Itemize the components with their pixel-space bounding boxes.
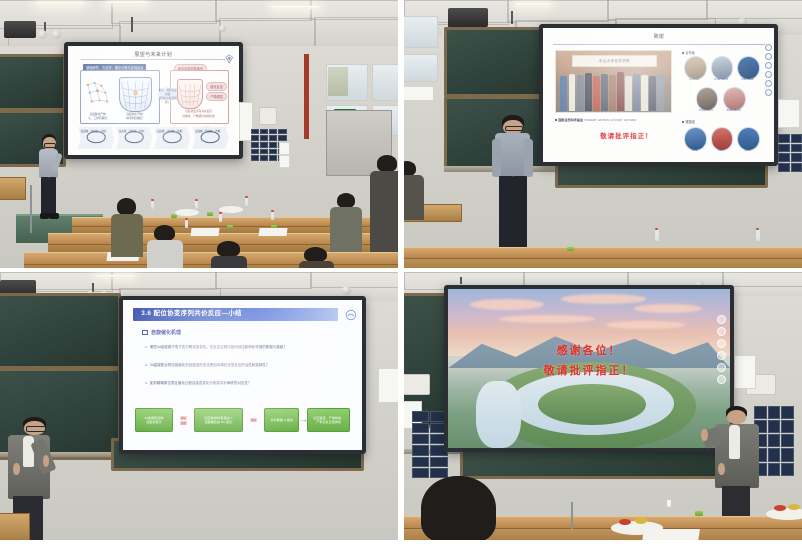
- more-icon[interactable]: [717, 375, 726, 384]
- fruit: [788, 504, 800, 510]
- wall-speaker: [448, 8, 488, 27]
- slide-question: 哪些3d金属离子电子态与氧化态变化，在反应过程中如何对应影响化学键的断裂与重组？: [145, 345, 287, 350]
- cloud-icon[interactable]: [765, 44, 772, 51]
- presenter-hand: [701, 429, 707, 441]
- snack-box: [567, 247, 574, 251]
- grid-icon[interactable]: [717, 363, 726, 372]
- avatar-name: 陈梦园 / 苏丹丹: [719, 110, 749, 113]
- chevron-step: 反应物中间体产物: [78, 127, 114, 149]
- presenter-legs: [41, 177, 48, 215]
- flow-arrow-tag: 诱导: [180, 416, 187, 420]
- ceiling: [0, 0, 398, 48]
- slide-cloud-text: 催化、调控自旋协变 序列共价反应机理？: [157, 89, 178, 105]
- slide-left-caption-2: 自旋催化产物？ 中间体的捕捉？: [117, 113, 153, 122]
- snack-box: [171, 214, 177, 218]
- funding-label: 国家自然科学基金: [558, 118, 583, 122]
- chevron-step: 反应物中间体产物: [154, 127, 190, 149]
- presenter-hand: [718, 463, 725, 476]
- slide-title: 3.6 配位协变序列共价反应—小结: [141, 308, 242, 317]
- wall-notice: [734, 355, 756, 389]
- student: [111, 198, 143, 257]
- flow-step: 3d金属配合物 自旋态变化: [135, 408, 172, 432]
- projector-screen[interactable]: 致谢 中山大学化学学院: [539, 24, 778, 166]
- cage-diagram: [119, 77, 152, 112]
- student: [330, 193, 362, 252]
- fruit-plate: [175, 209, 199, 216]
- slide-left-caption-1: 自旋催化产物 与、工作机理性: [81, 113, 114, 122]
- bullet-icon: [682, 52, 684, 54]
- flow-arrow-tag: 反馈: [180, 421, 187, 425]
- presenter-arm: [492, 139, 501, 177]
- mic-stand: [30, 185, 32, 233]
- avatar: [696, 87, 719, 110]
- glasses-icon: [44, 143, 56, 148]
- slide-acknowledgement: 致谢 中山大学化学学院: [543, 28, 774, 162]
- curtain: [328, 67, 348, 96]
- presenter-shoe: [40, 213, 49, 219]
- avatar: [723, 87, 746, 110]
- chevron-step: 反应物中间体产物: [192, 127, 228, 149]
- slide-red-text: 敬请批评指正！: [580, 130, 672, 140]
- presenter: [36, 134, 64, 220]
- slide-right-label-2: 产物调控: [206, 92, 227, 101]
- photo-bottom-left: 3.6 配位协变序列共价反应—小结 自旋催化机理 哪些3d金属离子电子态与氧化态…: [0, 272, 398, 540]
- fruit: [619, 519, 631, 526]
- thank-you-line-1: 感谢各位！: [448, 342, 731, 358]
- avatar-name: 李鸿源 / 张伟杰: [691, 110, 721, 113]
- more-icon[interactable]: [765, 89, 772, 96]
- window: [372, 64, 398, 101]
- snack-box: [207, 212, 213, 216]
- slide-question: 如何精确原位表征催化过程自旋态变化与协变共价串联的对应性？: [145, 381, 252, 386]
- avatar: [737, 127, 760, 150]
- photo-top-right: 致谢 中山大学化学学院: [404, 0, 802, 268]
- wall-control-panel[interactable]: [259, 107, 277, 125]
- wall-pipe: [304, 54, 309, 140]
- funding-numbers: (T2341287, 22675273, 21722397, 20471282): [584, 119, 636, 122]
- square-bullet-icon: [142, 330, 148, 336]
- avatar: [737, 56, 760, 79]
- avatar-name: 陈海涛: [733, 150, 763, 153]
- group-photo: 中山大学化学学院: [555, 50, 672, 114]
- slide-research-plan: 展望与未来计划 基础研究、方法学、理论计算与实验结合 面向应用的新体系: [68, 46, 239, 156]
- window: [404, 16, 438, 47]
- window: [404, 54, 438, 83]
- whiteboard-toolbar[interactable]: [765, 44, 772, 96]
- presenter-hand: [13, 463, 19, 475]
- ceiling-light: [107, 1, 148, 4]
- standing-attendee: [370, 155, 398, 251]
- handout-paper: [258, 228, 287, 236]
- key-cabinet[interactable]: [412, 411, 448, 478]
- avatar-name: 李鹏 / 苏成勇: [733, 79, 763, 82]
- wall-notice-small: [279, 155, 291, 168]
- photo-top-left: 展望与未来计划 基础研究、方法学、理论计算与实验结合 面向应用的新体系: [0, 0, 398, 268]
- grid-icon[interactable]: [765, 80, 772, 87]
- avatar: [711, 56, 734, 79]
- snack-box: [695, 511, 703, 516]
- ceiling-camera: [52, 30, 61, 39]
- cage-diagram-right: [177, 79, 203, 110]
- collaborators-heading: 合作者: [682, 50, 695, 55]
- pen-icon[interactable]: [717, 327, 726, 336]
- snack-box: [227, 225, 233, 229]
- ceiling-light: [35, 2, 84, 5]
- ceiling-light: [515, 3, 551, 6]
- mic-stand: [571, 502, 573, 529]
- desk-row: [404, 247, 802, 259]
- student: [147, 225, 183, 268]
- bullet-icon: [682, 121, 684, 123]
- attendee: [404, 161, 424, 220]
- bullet-icon: [555, 119, 557, 121]
- flow-arrow-labelled: 诱导 反馈: [174, 416, 193, 425]
- flow-step: 反应物/配体自旋态 S 自旋耦合态 Ms 变化: [194, 408, 243, 432]
- slide-title: 展望与未来计划: [98, 51, 208, 58]
- avatar: [684, 56, 707, 79]
- water-bottle: [271, 212, 274, 220]
- reaction-chevron-strip: 反应物中间体产物 反应物中间体产物 反应物中间体产物 反应物中间体产物: [78, 127, 229, 149]
- laser-icon[interactable]: [717, 351, 726, 360]
- photo-bottom-right: 感谢各位！ 敬请批评指正！: [404, 272, 802, 540]
- ceiling-camera: [342, 286, 351, 295]
- student: [211, 241, 247, 268]
- handout-paper: [642, 529, 700, 540]
- projector-screen[interactable]: 感谢各位！ 敬请批评指正！: [444, 285, 735, 451]
- avatar-name: 李俊杰: [706, 150, 736, 153]
- flow-step: 共价断裂 & 键合: [264, 408, 299, 432]
- river-bend: [476, 381, 521, 447]
- foreground-attendee: [416, 476, 504, 540]
- wall-control-panel[interactable]: [404, 374, 430, 395]
- group-photo-banner: 中山大学化学学院: [572, 55, 657, 67]
- slide-summary: 3.6 配位协变序列共价反应—小结 自旋催化机理 哪些3d金属离子电子态与氧化态…: [123, 300, 362, 450]
- pen-icon[interactable]: [765, 53, 772, 60]
- cloud-icon[interactable]: [717, 315, 726, 324]
- water-bottle: [756, 230, 760, 241]
- molecule-diagram: [83, 76, 112, 111]
- podium: [0, 513, 30, 540]
- ceiling-speaker: [219, 25, 226, 32]
- blackboard: [0, 293, 121, 369]
- flow-arrow-tag: 诱导: [250, 418, 257, 422]
- eraser-icon[interactable]: [717, 339, 726, 348]
- wall-notice-small: [279, 142, 291, 155]
- water-bottle: [655, 230, 659, 241]
- avatar-name: 刘志聪: [679, 150, 709, 153]
- wall-speaker: [4, 21, 36, 37]
- avatar-name: 张杰鹏 / 廖培德: [706, 79, 736, 82]
- flow-step: 反应路径、产物种类、 产率及反应选择性: [307, 408, 350, 432]
- student: [299, 247, 335, 268]
- fruit: [635, 517, 647, 524]
- flow-arrow-labelled: 诱导: [244, 418, 263, 422]
- avatar: [711, 127, 734, 150]
- photo-collage: 展望与未来计划 基础研究、方法学、理论计算与实验结合 面向应用的新体系: [0, 0, 802, 544]
- presenter-shoe: [49, 213, 59, 219]
- flow-arrow-icon: ⟶: [300, 418, 306, 423]
- glasses-icon: [505, 126, 524, 132]
- paper-cup: [667, 500, 671, 507]
- mechanism-flow: 3d金属配合物 自旋态变化 诱导 反馈 反应物/配体自旋态 S 自旋耦合态 Ms…: [135, 408, 350, 432]
- water-bottle: [245, 198, 248, 206]
- wall-notice: [404, 86, 434, 101]
- eraser-icon[interactable]: [765, 62, 772, 69]
- water-bottle: [195, 201, 198, 209]
- presenter-shirt: [729, 425, 739, 458]
- ceiling-light: [270, 6, 318, 9]
- blackboard: [0, 54, 66, 111]
- river-island: [538, 384, 645, 425]
- projector-screen[interactable]: 展望与未来计划 基础研究、方法学、理论计算与实验结合 面向应用的新体系: [64, 42, 243, 160]
- presenter-head: [727, 410, 746, 424]
- chevron-step: 反应物中间体产物: [116, 127, 152, 149]
- key-cabinet[interactable]: [778, 134, 802, 172]
- students-heading: 课题组: [682, 119, 695, 124]
- water-bottle: [185, 220, 188, 228]
- presenter: [492, 115, 536, 262]
- water-bottle: [151, 201, 154, 209]
- projector-screen[interactable]: 3.6 配位协变序列共价反应—小结 自旋催化机理 哪些3d金属离子电子态与氧化态…: [119, 296, 366, 454]
- water-bottle: [219, 214, 222, 222]
- slide-right-label-1: 催化反应: [206, 82, 227, 91]
- avatar-name: 陈小明 院士: [679, 79, 709, 82]
- presenter-arm: [524, 139, 533, 177]
- whiteboard-toolbar[interactable]: [717, 315, 726, 384]
- university-logo: [345, 308, 357, 320]
- presenter-legs: [49, 177, 56, 215]
- thank-you-line-2: 敬请批评指正！: [448, 362, 731, 378]
- presenter-shirt: [23, 436, 34, 467]
- ceiling-light: [96, 275, 136, 278]
- slide-thank-you: 感谢各位！ 敬请批评指正！: [448, 289, 731, 447]
- wall-notice: [778, 99, 800, 128]
- slide-subheading: 自旋催化机理: [142, 329, 181, 336]
- fruit-plate: [219, 206, 243, 213]
- laser-icon[interactable]: [765, 71, 772, 78]
- avatar: [684, 127, 707, 150]
- funding-line: 国家自然科学基金 (T2341287, 22675273, 21722397, …: [555, 117, 636, 122]
- slide-title: 致谢: [543, 33, 774, 40]
- slide-right-caption: 自旋协变序列共价反应 在催化、产物调控中的应用: [172, 110, 225, 119]
- podium: [0, 177, 26, 200]
- slide-question: 3d金属配合物自旋催化剂自旋态的变化是如何调控化学反应的活性和选择性？: [145, 363, 269, 368]
- university-logo: [225, 51, 234, 61]
- wall-notice: [378, 368, 398, 402]
- handout-paper: [190, 228, 219, 236]
- glasses-icon: [26, 426, 46, 432]
